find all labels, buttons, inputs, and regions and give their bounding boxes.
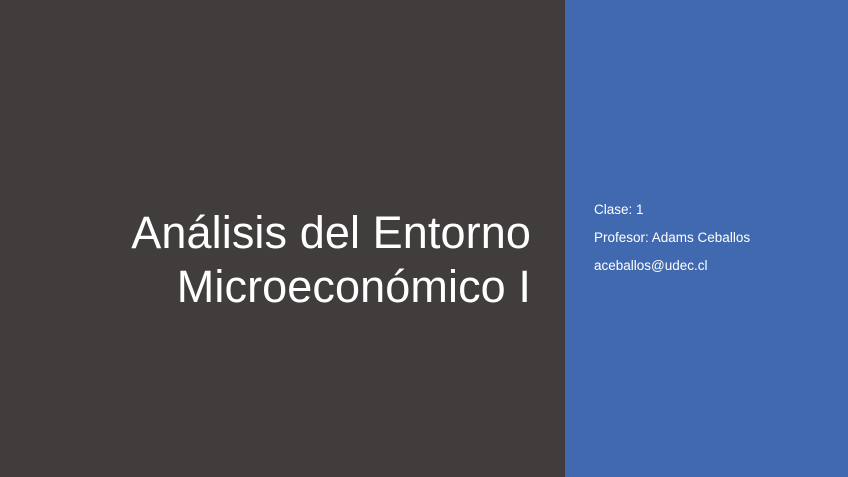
class-number-text: Clase: 1 bbox=[594, 196, 836, 224]
left-dark-panel: Análisis del Entorno Microeconómico I bbox=[0, 0, 565, 477]
right-blue-panel: Clase: 1 Profesor: Adams Ceballos acebal… bbox=[565, 0, 848, 477]
professor-name-text: Profesor: Adams Ceballos bbox=[594, 224, 836, 252]
title-line-2: Microeconómico I bbox=[40, 260, 531, 314]
title-line-1: Análisis del Entorno bbox=[40, 206, 531, 260]
slide-title: Análisis del Entorno Microeconómico I bbox=[40, 206, 531, 314]
title-slide: Análisis del Entorno Microeconómico I Cl… bbox=[0, 0, 848, 477]
professor-email-text: aceballos@udec.cl bbox=[594, 252, 836, 280]
slide-subtitle-block: Clase: 1 Profesor: Adams Ceballos acebal… bbox=[594, 196, 836, 280]
